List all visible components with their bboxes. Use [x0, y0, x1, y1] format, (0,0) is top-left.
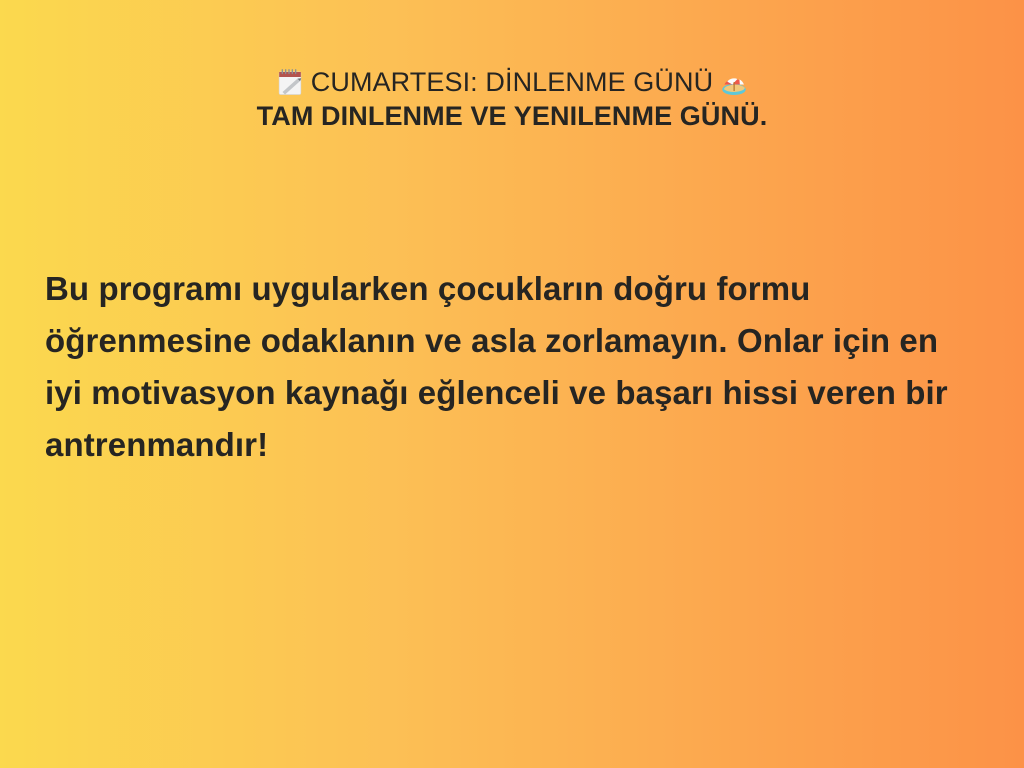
spiral-notepad-icon — [275, 67, 305, 97]
header-title-line-1-label: CUMARTESI: DİNLENME GÜNÜ — [305, 67, 719, 99]
body-paragraph: Bu programı uygularken çocukların doğru … — [45, 263, 980, 471]
slide-header: CUMARTESI: DİNLENME GÜNÜ TAM DINLENME VE… — [0, 66, 1024, 133]
header-title-line-1: CUMARTESI: DİNLENME GÜNÜ — [0, 66, 1024, 99]
slide-canvas: CUMARTESI: DİNLENME GÜNÜ TAM DINLENME VE… — [0, 0, 1024, 768]
beach-with-umbrella-icon — [719, 67, 749, 97]
header-title-line-2: TAM DINLENME VE YENILENME GÜNÜ. — [0, 101, 1024, 133]
